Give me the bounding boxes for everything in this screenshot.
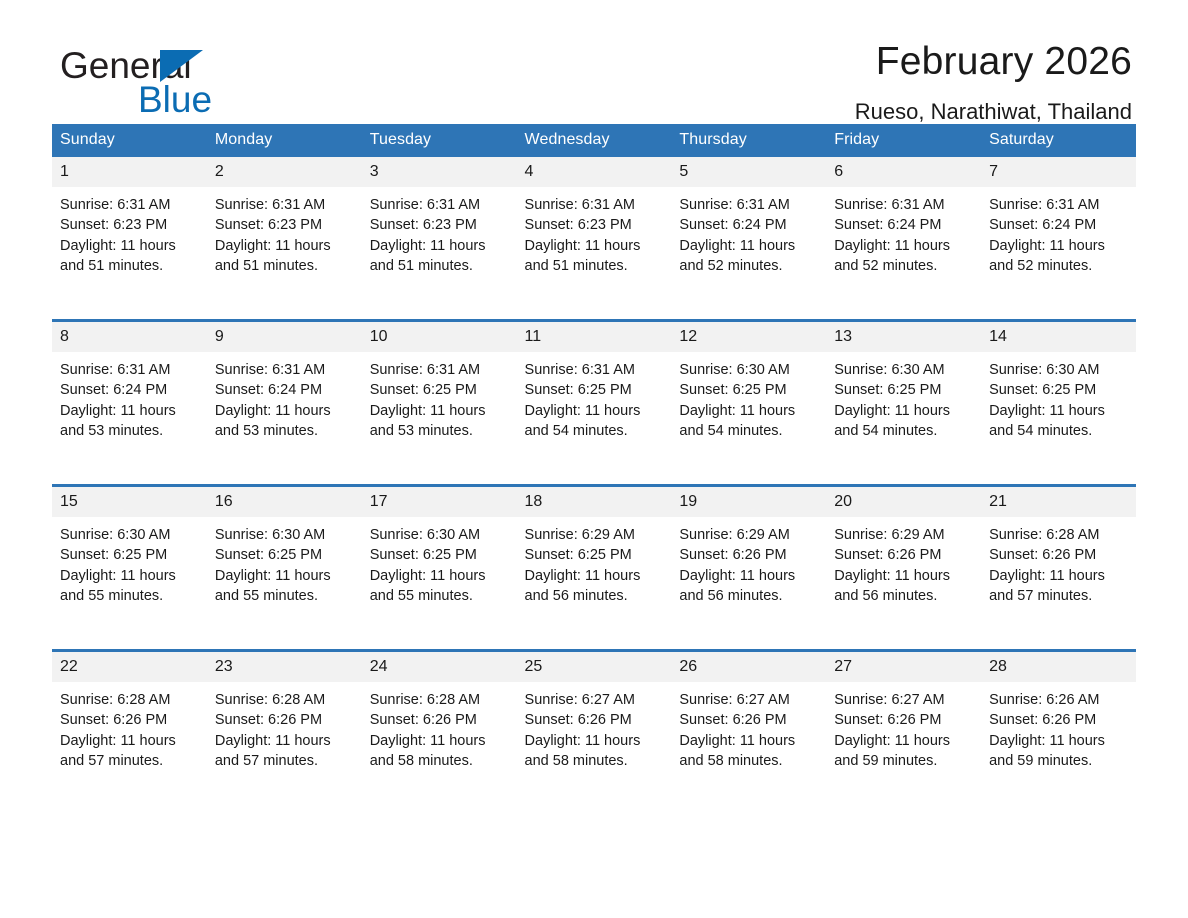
day-number: 26 [671,652,826,682]
day-info: Sunrise: 6:31 AM Sunset: 6:23 PM Dayligh… [207,187,362,276]
day-cell[interactable]: 28 Sunrise: 6:26 AM Sunset: 6:26 PM Dayl… [981,651,1136,815]
day-number: 15 [52,487,207,517]
day-cell[interactable]: 3 Sunrise: 6:31 AM Sunset: 6:23 PM Dayli… [362,157,517,321]
sunrise-text: Sunrise: 6:31 AM [679,195,816,215]
day-cell[interactable]: 12 Sunrise: 6:30 AM Sunset: 6:25 PM Dayl… [671,321,826,486]
day-info: Sunrise: 6:31 AM Sunset: 6:25 PM Dayligh… [517,352,672,441]
daylight-text: Daylight: 11 hours and 58 minutes. [525,731,662,772]
day-cell[interactable]: 8 Sunrise: 6:31 AM Sunset: 6:24 PM Dayli… [52,321,207,486]
page-header: General Blue February 2026 Rueso, Narath… [52,0,1136,110]
sunset-text: Sunset: 6:25 PM [60,545,197,565]
day-info: Sunrise: 6:28 AM Sunset: 6:26 PM Dayligh… [207,682,362,771]
day-number: 6 [826,157,981,187]
sunset-text: Sunset: 6:26 PM [370,710,507,730]
day-cell[interactable]: 16 Sunrise: 6:30 AM Sunset: 6:25 PM Dayl… [207,486,362,651]
daylight-text: Daylight: 11 hours and 56 minutes. [679,566,816,607]
daylight-text: Daylight: 11 hours and 52 minutes. [679,236,816,277]
weekday-header-tuesday: Tuesday [362,124,517,157]
day-number: 4 [517,157,672,187]
daylight-text: Daylight: 11 hours and 57 minutes. [60,731,197,772]
day-cell[interactable]: 13 Sunrise: 6:30 AM Sunset: 6:25 PM Dayl… [826,321,981,486]
daylight-text: Daylight: 11 hours and 53 minutes. [215,401,352,442]
day-info: Sunrise: 6:31 AM Sunset: 6:24 PM Dayligh… [207,352,362,441]
day-cell[interactable]: 19 Sunrise: 6:29 AM Sunset: 6:26 PM Dayl… [671,486,826,651]
sunset-text: Sunset: 6:26 PM [215,710,352,730]
sunrise-text: Sunrise: 6:30 AM [834,360,971,380]
daylight-text: Daylight: 11 hours and 59 minutes. [834,731,971,772]
day-info: Sunrise: 6:31 AM Sunset: 6:25 PM Dayligh… [362,352,517,441]
sunset-text: Sunset: 6:25 PM [834,380,971,400]
day-number: 10 [362,322,517,352]
day-number: 8 [52,322,207,352]
day-number: 16 [207,487,362,517]
sunrise-text: Sunrise: 6:28 AM [215,690,352,710]
sunset-text: Sunset: 6:26 PM [525,710,662,730]
day-cell[interactable]: 23 Sunrise: 6:28 AM Sunset: 6:26 PM Dayl… [207,651,362,815]
sunset-text: Sunset: 6:24 PM [679,215,816,235]
daylight-text: Daylight: 11 hours and 58 minutes. [370,731,507,772]
week-row: 8 Sunrise: 6:31 AM Sunset: 6:24 PM Dayli… [52,321,1136,486]
sunset-text: Sunset: 6:26 PM [679,545,816,565]
day-number: 22 [52,652,207,682]
sunset-text: Sunset: 6:25 PM [525,545,662,565]
day-info: Sunrise: 6:29 AM Sunset: 6:26 PM Dayligh… [671,517,826,606]
day-info: Sunrise: 6:29 AM Sunset: 6:26 PM Dayligh… [826,517,981,606]
sunrise-text: Sunrise: 6:30 AM [679,360,816,380]
sunrise-text: Sunrise: 6:31 AM [60,360,197,380]
sunset-text: Sunset: 6:23 PM [215,215,352,235]
day-number: 24 [362,652,517,682]
sunrise-sunset-calendar: Sunday Monday Tuesday Wednesday Thursday… [52,124,1136,814]
day-number: 3 [362,157,517,187]
day-number: 18 [517,487,672,517]
daylight-text: Daylight: 11 hours and 51 minutes. [525,236,662,277]
sunset-text: Sunset: 6:23 PM [525,215,662,235]
day-number: 14 [981,322,1136,352]
day-info: Sunrise: 6:30 AM Sunset: 6:25 PM Dayligh… [826,352,981,441]
day-cell[interactable]: 7 Sunrise: 6:31 AM Sunset: 6:24 PM Dayli… [981,157,1136,321]
sunrise-text: Sunrise: 6:27 AM [525,690,662,710]
sunset-text: Sunset: 6:25 PM [370,380,507,400]
day-info: Sunrise: 6:31 AM Sunset: 6:24 PM Dayligh… [826,187,981,276]
day-info: Sunrise: 6:28 AM Sunset: 6:26 PM Dayligh… [362,682,517,771]
day-info: Sunrise: 6:30 AM Sunset: 6:25 PM Dayligh… [362,517,517,606]
day-cell[interactable]: 14 Sunrise: 6:30 AM Sunset: 6:25 PM Dayl… [981,321,1136,486]
sunrise-text: Sunrise: 6:29 AM [834,525,971,545]
day-number: 27 [826,652,981,682]
daylight-text: Daylight: 11 hours and 55 minutes. [215,566,352,607]
day-cell[interactable]: 25 Sunrise: 6:27 AM Sunset: 6:26 PM Dayl… [517,651,672,815]
sunrise-text: Sunrise: 6:29 AM [679,525,816,545]
daylight-text: Daylight: 11 hours and 51 minutes. [370,236,507,277]
daylight-text: Daylight: 11 hours and 52 minutes. [989,236,1126,277]
day-number: 12 [671,322,826,352]
week-row: 1 Sunrise: 6:31 AM Sunset: 6:23 PM Dayli… [52,157,1136,321]
sunset-text: Sunset: 6:25 PM [679,380,816,400]
daylight-text: Daylight: 11 hours and 56 minutes. [834,566,971,607]
day-info: Sunrise: 6:27 AM Sunset: 6:26 PM Dayligh… [671,682,826,771]
day-number: 9 [207,322,362,352]
day-info: Sunrise: 6:31 AM Sunset: 6:24 PM Dayligh… [52,352,207,441]
day-number: 7 [981,157,1136,187]
day-info: Sunrise: 6:30 AM Sunset: 6:25 PM Dayligh… [981,352,1136,441]
sunset-text: Sunset: 6:24 PM [215,380,352,400]
logo-text-blue: Blue [138,80,212,120]
daylight-text: Daylight: 11 hours and 51 minutes. [60,236,197,277]
sunset-text: Sunset: 6:26 PM [60,710,197,730]
daylight-text: Daylight: 11 hours and 54 minutes. [679,401,816,442]
sunrise-text: Sunrise: 6:28 AM [989,525,1126,545]
day-number: 28 [981,652,1136,682]
day-cell[interactable]: 21 Sunrise: 6:28 AM Sunset: 6:26 PM Dayl… [981,486,1136,651]
sunset-text: Sunset: 6:25 PM [370,545,507,565]
sunrise-text: Sunrise: 6:30 AM [370,525,507,545]
sunrise-text: Sunrise: 6:27 AM [679,690,816,710]
weekday-header-sunday: Sunday [52,124,207,157]
sunrise-text: Sunrise: 6:26 AM [989,690,1126,710]
day-info: Sunrise: 6:31 AM Sunset: 6:23 PM Dayligh… [362,187,517,276]
sunset-text: Sunset: 6:26 PM [834,545,971,565]
sunrise-text: Sunrise: 6:31 AM [525,360,662,380]
day-info: Sunrise: 6:31 AM Sunset: 6:24 PM Dayligh… [671,187,826,276]
sunset-text: Sunset: 6:24 PM [834,215,971,235]
sunset-text: Sunset: 6:26 PM [679,710,816,730]
day-cell[interactable]: 27 Sunrise: 6:27 AM Sunset: 6:26 PM Dayl… [826,651,981,815]
day-cell[interactable]: 11 Sunrise: 6:31 AM Sunset: 6:25 PM Dayl… [517,321,672,486]
weekday-header-row: Sunday Monday Tuesday Wednesday Thursday… [52,124,1136,157]
day-cell[interactable]: 2 Sunrise: 6:31 AM Sunset: 6:23 PM Dayli… [207,157,362,321]
sunset-text: Sunset: 6:26 PM [834,710,971,730]
sunset-text: Sunset: 6:23 PM [60,215,197,235]
calendar-body: 1 Sunrise: 6:31 AM Sunset: 6:23 PM Dayli… [52,157,1136,814]
daylight-text: Daylight: 11 hours and 59 minutes. [989,731,1126,772]
day-cell[interactable]: 22 Sunrise: 6:28 AM Sunset: 6:26 PM Dayl… [52,651,207,815]
day-number: 23 [207,652,362,682]
weekday-header-friday: Friday [826,124,981,157]
daylight-text: Daylight: 11 hours and 53 minutes. [60,401,197,442]
day-number: 21 [981,487,1136,517]
logo-triangle-icon [160,50,203,82]
week-row: 15 Sunrise: 6:30 AM Sunset: 6:25 PM Dayl… [52,486,1136,651]
sunrise-text: Sunrise: 6:27 AM [834,690,971,710]
weekday-header-thursday: Thursday [671,124,826,157]
sunrise-text: Sunrise: 6:31 AM [60,195,197,215]
day-cell[interactable]: 5 Sunrise: 6:31 AM Sunset: 6:24 PM Dayli… [671,157,826,321]
sunrise-text: Sunrise: 6:28 AM [60,690,197,710]
week-row: 22 Sunrise: 6:28 AM Sunset: 6:26 PM Dayl… [52,651,1136,815]
sunset-text: Sunset: 6:25 PM [525,380,662,400]
day-cell[interactable]: 4 Sunrise: 6:31 AM Sunset: 6:23 PM Dayli… [517,157,672,321]
day-cell[interactable]: 9 Sunrise: 6:31 AM Sunset: 6:24 PM Dayli… [207,321,362,486]
sunrise-text: Sunrise: 6:28 AM [370,690,507,710]
day-cell[interactable]: 24 Sunrise: 6:28 AM Sunset: 6:26 PM Dayl… [362,651,517,815]
day-number: 17 [362,487,517,517]
day-info: Sunrise: 6:26 AM Sunset: 6:26 PM Dayligh… [981,682,1136,771]
day-number: 13 [826,322,981,352]
sunset-text: Sunset: 6:26 PM [989,710,1126,730]
generalblue-logo[interactable]: General Blue [60,46,300,118]
day-cell[interactable]: 20 Sunrise: 6:29 AM Sunset: 6:26 PM Dayl… [826,486,981,651]
daylight-text: Daylight: 11 hours and 55 minutes. [60,566,197,607]
daylight-text: Daylight: 11 hours and 54 minutes. [834,401,971,442]
weekday-header-wednesday: Wednesday [517,124,672,157]
day-info: Sunrise: 6:30 AM Sunset: 6:25 PM Dayligh… [207,517,362,606]
day-info: Sunrise: 6:31 AM Sunset: 6:24 PM Dayligh… [981,187,1136,276]
day-info: Sunrise: 6:31 AM Sunset: 6:23 PM Dayligh… [52,187,207,276]
day-cell[interactable]: 6 Sunrise: 6:31 AM Sunset: 6:24 PM Dayli… [826,157,981,321]
sunset-text: Sunset: 6:25 PM [989,380,1126,400]
sunrise-text: Sunrise: 6:31 AM [834,195,971,215]
sunrise-text: Sunrise: 6:31 AM [215,195,352,215]
sunrise-text: Sunrise: 6:31 AM [370,195,507,215]
weekday-header-monday: Monday [207,124,362,157]
calendar-page: General Blue February 2026 Rueso, Narath… [0,0,1188,918]
daylight-text: Daylight: 11 hours and 55 minutes. [370,566,507,607]
day-info: Sunrise: 6:29 AM Sunset: 6:25 PM Dayligh… [517,517,672,606]
day-cell[interactable]: 1 Sunrise: 6:31 AM Sunset: 6:23 PM Dayli… [52,157,207,321]
day-info: Sunrise: 6:27 AM Sunset: 6:26 PM Dayligh… [826,682,981,771]
daylight-text: Daylight: 11 hours and 54 minutes. [525,401,662,442]
sunset-text: Sunset: 6:23 PM [370,215,507,235]
daylight-text: Daylight: 11 hours and 52 minutes. [834,236,971,277]
day-number: 19 [671,487,826,517]
day-number: 25 [517,652,672,682]
day-cell[interactable]: 26 Sunrise: 6:27 AM Sunset: 6:26 PM Dayl… [671,651,826,815]
day-info: Sunrise: 6:30 AM Sunset: 6:25 PM Dayligh… [671,352,826,441]
daylight-text: Daylight: 11 hours and 53 minutes. [370,401,507,442]
sunrise-text: Sunrise: 6:31 AM [215,360,352,380]
daylight-text: Daylight: 11 hours and 51 minutes. [215,236,352,277]
day-cell[interactable]: 18 Sunrise: 6:29 AM Sunset: 6:25 PM Dayl… [517,486,672,651]
sunrise-text: Sunrise: 6:31 AM [525,195,662,215]
day-number: 5 [671,157,826,187]
daylight-text: Daylight: 11 hours and 57 minutes. [215,731,352,772]
day-cell[interactable]: 10 Sunrise: 6:31 AM Sunset: 6:25 PM Dayl… [362,321,517,486]
sunrise-text: Sunrise: 6:30 AM [989,360,1126,380]
day-cell[interactable]: 15 Sunrise: 6:30 AM Sunset: 6:25 PM Dayl… [52,486,207,651]
sunset-text: Sunset: 6:26 PM [989,545,1126,565]
sunset-text: Sunset: 6:25 PM [215,545,352,565]
day-number: 2 [207,157,362,187]
day-info: Sunrise: 6:28 AM Sunset: 6:26 PM Dayligh… [52,682,207,771]
day-number: 1 [52,157,207,187]
daylight-text: Daylight: 11 hours and 56 minutes. [525,566,662,607]
daylight-text: Daylight: 11 hours and 57 minutes. [989,566,1126,607]
daylight-text: Daylight: 11 hours and 54 minutes. [989,401,1126,442]
day-info: Sunrise: 6:28 AM Sunset: 6:26 PM Dayligh… [981,517,1136,606]
daylight-text: Daylight: 11 hours and 58 minutes. [679,731,816,772]
sunrise-text: Sunrise: 6:29 AM [525,525,662,545]
sunrise-text: Sunrise: 6:30 AM [215,525,352,545]
day-cell[interactable]: 17 Sunrise: 6:30 AM Sunset: 6:25 PM Dayl… [362,486,517,651]
sunrise-text: Sunrise: 6:30 AM [60,525,197,545]
day-number: 11 [517,322,672,352]
sunset-text: Sunset: 6:24 PM [989,215,1126,235]
day-number: 20 [826,487,981,517]
day-info: Sunrise: 6:30 AM Sunset: 6:25 PM Dayligh… [52,517,207,606]
sunrise-text: Sunrise: 6:31 AM [370,360,507,380]
day-info: Sunrise: 6:31 AM Sunset: 6:23 PM Dayligh… [517,187,672,276]
sunset-text: Sunset: 6:24 PM [60,380,197,400]
day-info: Sunrise: 6:27 AM Sunset: 6:26 PM Dayligh… [517,682,672,771]
weekday-header-saturday: Saturday [981,124,1136,157]
sunrise-text: Sunrise: 6:31 AM [989,195,1126,215]
